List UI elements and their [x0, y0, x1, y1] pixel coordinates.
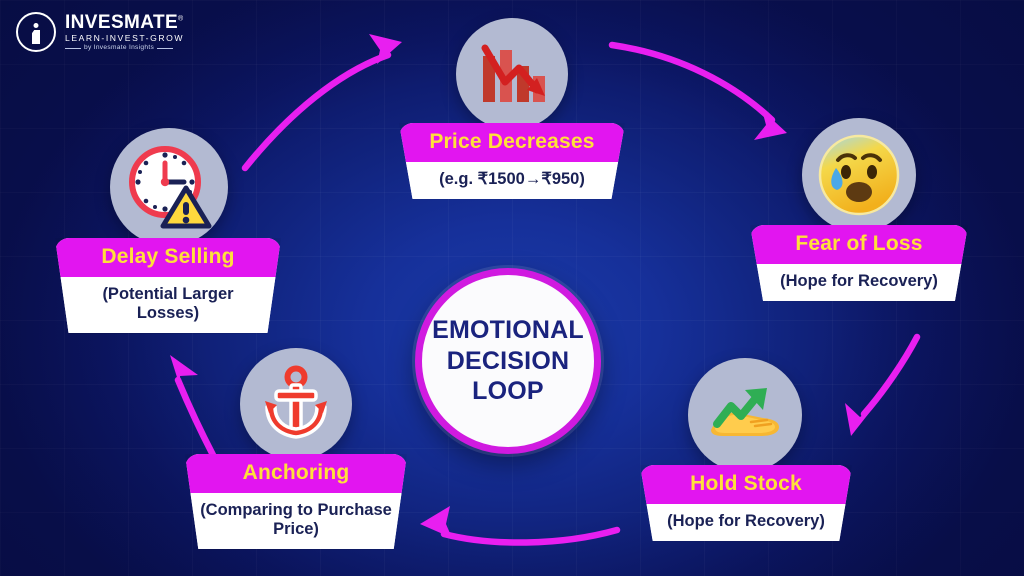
icon-bubble-delay-selling	[110, 128, 228, 246]
brand-name: INVESMATE®	[65, 13, 184, 32]
card-fear-of-loss[interactable]: Fear of Loss (Hope for Recovery)	[750, 225, 968, 301]
icon-bubble-anchoring	[240, 348, 352, 460]
card-subtitle-price-decreases: (e.g. ₹1500→₹950)	[399, 162, 625, 199]
registered-mark: ®	[178, 15, 184, 22]
hub-line-2: DECISION	[447, 346, 569, 377]
byline-rule-left	[65, 48, 81, 49]
card-price-decreases[interactable]: Price Decreases (e.g. ₹1500→₹950)	[399, 123, 625, 199]
card-subtitle-anchoring: (Comparing to Purchase Price)	[185, 493, 407, 549]
card-title-delay-selling: Delay Selling	[55, 238, 281, 277]
anchor-icon	[259, 365, 333, 443]
anxious-sweat-face-icon	[816, 132, 902, 218]
brand-byline: by Invesmate Insights	[65, 45, 184, 52]
infographic-canvas: INVESMATE® LEARN-INVEST-GROW by Invesmat…	[0, 0, 1024, 576]
arrow-delay-to-price	[245, 34, 402, 168]
arrow-hold-to-anchoring	[420, 506, 617, 543]
card-title-anchoring: Anchoring	[185, 454, 407, 493]
declining-bar-chart-icon	[475, 38, 549, 110]
brand-wordmark: INVESMATE® LEARN-INVEST-GROW by Invesmat…	[65, 13, 184, 52]
card-title-price-decreases: Price Decreases	[399, 123, 625, 162]
byline-rule-right	[157, 48, 173, 49]
clock-warning-icon	[125, 144, 213, 230]
card-anchoring[interactable]: Anchoring (Comparing to Purchase Price)	[185, 454, 407, 549]
arrow-price-to-fear	[612, 45, 787, 140]
card-subtitle-delay-selling: (Potential Larger Losses)	[55, 277, 281, 333]
arrow-anchoring-to-delay	[170, 355, 213, 455]
card-title-fear-of-loss: Fear of Loss	[750, 225, 968, 264]
hub-line-1: EMOTIONAL	[432, 315, 584, 346]
hand-holding-rising-arrow-icon	[705, 380, 785, 450]
card-subtitle-hold-stock: (Hope for Recovery)	[640, 504, 852, 541]
card-subtitle-fear-of-loss: (Hope for Recovery)	[750, 264, 968, 301]
emotional-decision-loop-hub: EMOTIONAL DECISION LOOP	[415, 268, 601, 454]
icon-bubble-fear-of-loss	[802, 118, 916, 232]
arrow-fear-to-hold	[845, 337, 917, 436]
hub-line-3: LOOP	[472, 376, 544, 407]
brand-name-text: INVESMATE	[65, 12, 178, 33]
card-delay-selling[interactable]: Delay Selling (Potential Larger Losses)	[55, 238, 281, 333]
brand-logo: INVESMATE® LEARN-INVEST-GROW by Invesmat…	[16, 12, 184, 52]
card-title-hold-stock: Hold Stock	[640, 465, 852, 504]
invesmate-i-mark-icon	[16, 12, 56, 52]
icon-bubble-hold-stock	[688, 358, 802, 472]
card-hold-stock[interactable]: Hold Stock (Hope for Recovery)	[640, 465, 852, 541]
brand-tagline: LEARN-INVEST-GROW	[65, 34, 184, 43]
byline-text: by Invesmate Insights	[84, 45, 154, 52]
icon-bubble-price-decreases	[456, 18, 568, 130]
